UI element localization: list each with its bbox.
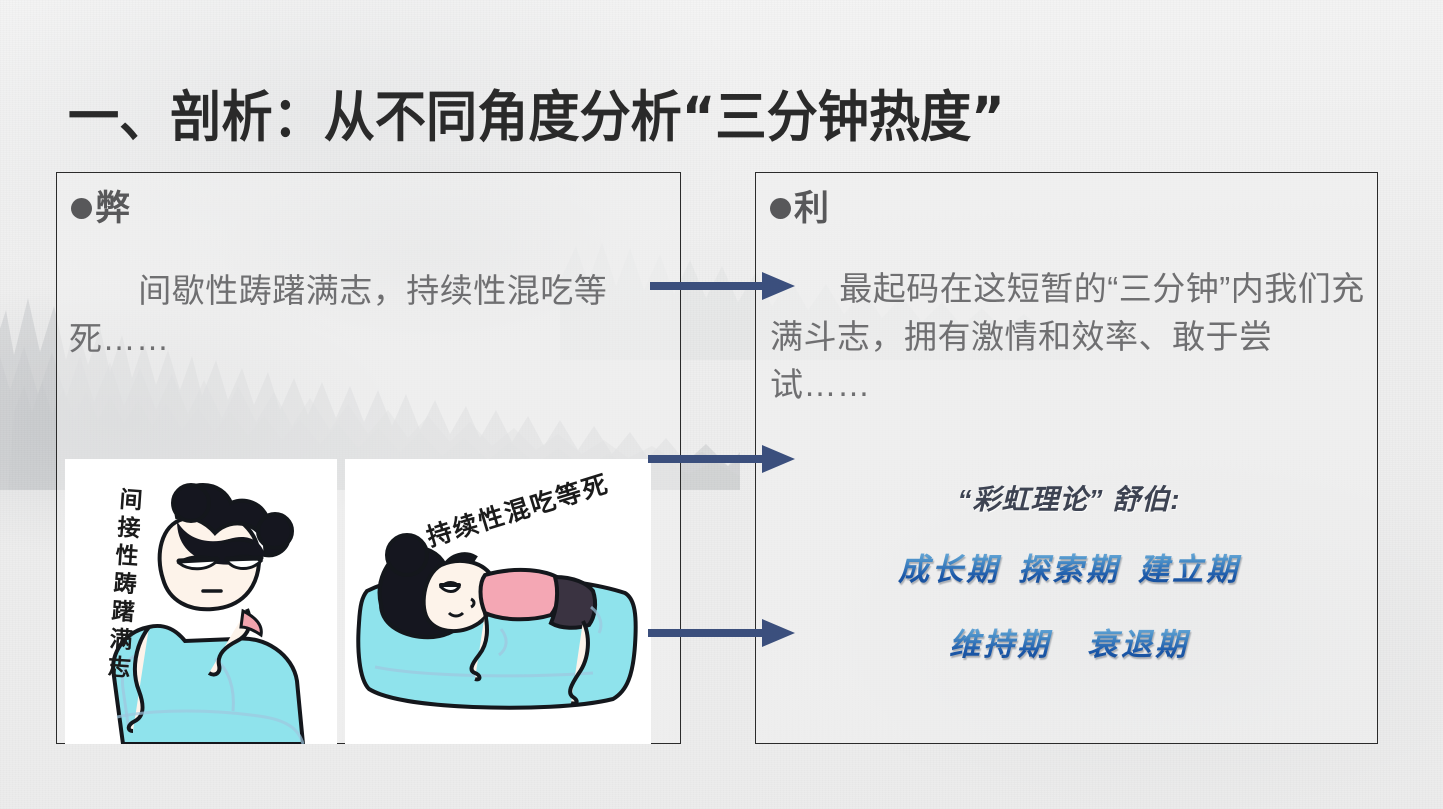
slide-canvas: 一、剖析：从不同角度分析“三分钟热度” 弊 间歇性踌躇满志，持续性混吃等死…… (0, 0, 1443, 809)
arrow-right-3 (648, 619, 795, 647)
stage-maintenance: 维持期 (949, 627, 1051, 662)
cartoon-image-group: 间接性踌躇满志 (65, 459, 655, 744)
panel-left-header-label: 弊 (95, 191, 130, 226)
panel-left-body-text: 间歇性踌躇满志，持续性混吃等死…… (69, 267, 673, 363)
cartoon-girl-sitting-in-bed: 间接性踌躇满志 (65, 459, 337, 744)
panel-advantages: 利 最起码在这短暂的“三分钟”内我们充满斗志，拥有激情和效率、敢于尝试…… “彩… (755, 172, 1378, 744)
career-stages-line-2: 维持期衰退期 (770, 619, 1368, 664)
career-stages-line-1: 成长期探索期建立期 (770, 544, 1368, 589)
arrow-right-2 (648, 445, 795, 473)
rainbow-theory-block: “彩虹理论” 舒伯: 成长期探索期建立期 维持期衰退期 (770, 478, 1368, 664)
stage-exploration: 探索期 (1018, 552, 1120, 587)
panel-right-header: 利 (770, 191, 829, 226)
cartoon-girl-lying-on-bed: 持续性混吃等死 (345, 459, 651, 744)
panel-right-header-label: 利 (794, 191, 829, 226)
page-title: 一、剖析：从不同角度分析“三分钟热度” (68, 72, 1005, 152)
stage-decline: 衰退期 (1087, 627, 1189, 662)
panel-left-header: 弊 (71, 191, 130, 226)
rainbow-theory-title: “彩虹理论” 舒伯: (770, 478, 1368, 518)
stage-growth: 成长期 (898, 552, 1000, 587)
panel-right-body-text: 最起码在这短暂的“三分钟”内我们充满斗志，拥有激情和效率、敢于尝试…… (770, 265, 1368, 410)
arrow-right-1 (650, 272, 795, 300)
bullet-dot-icon (71, 198, 92, 219)
bullet-dot-icon (770, 198, 791, 219)
panel-disadvantages: 弊 间歇性踌躇满志，持续性混吃等死…… (56, 172, 681, 744)
stage-establishment: 建立期 (1138, 552, 1240, 587)
